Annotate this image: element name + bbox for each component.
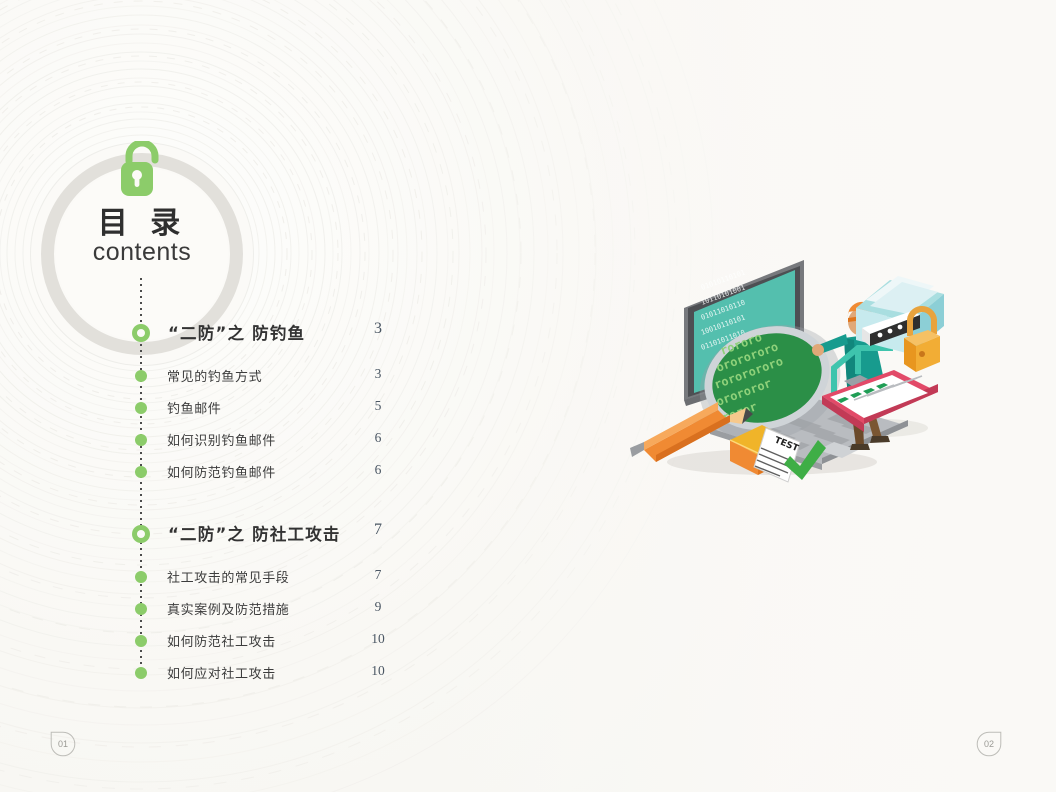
toc-page-number: 3 [360,366,396,382]
toc-section-row[interactable]: “二防”之 防钓鱼 3 [0,320,420,344]
ring-bullet-icon [132,525,150,543]
toc-page-number: 7 [360,521,396,539]
security-laptop-illustration: 01010110101 10110101001 01011010110 1001… [622,250,952,495]
page-number-left: 01 [58,739,68,749]
dot-bullet-icon [135,466,147,478]
dot-bullet-icon [135,571,147,583]
toc-page-number: 6 [360,430,396,446]
toc-item-label: 钓鱼邮件 [167,398,221,417]
dot-bullet-icon [135,635,147,647]
dot-bullet-icon [135,603,147,615]
toc-item-row[interactable]: 如何应对社工攻击 10 [0,661,420,685]
page-badge-right: 02 [976,731,1002,757]
toc-section-label: “二防”之 防社工攻击 [168,521,341,545]
page-number-right: 02 [984,739,994,749]
toc-page-number: 10 [360,631,396,647]
slide-canvas: 目 录 contents “二防”之 防钓鱼 3 常见的钓鱼方式 3 钓鱼邮件 … [0,0,1056,792]
toc-item-label: 如何识别钓鱼邮件 [167,430,276,449]
toc-item-row[interactable]: 如何识别钓鱼邮件 6 [0,428,420,452]
dot-bullet-icon [135,667,147,679]
toc-item-label: 社工攻击的常见手段 [167,567,289,586]
dot-bullet-icon [135,370,147,382]
toc-item-label: 真实案例及防范措施 [167,599,289,618]
dot-bullet-icon [135,434,147,446]
dot-bullet-icon [135,402,147,414]
toc-page-number: 6 [360,462,396,478]
toc-item-label: 如何防范钓鱼邮件 [167,462,276,481]
toc-section-label: “二防”之 防钓鱼 [168,320,305,344]
ring-bullet-icon [132,324,150,342]
toc-item-label: 常见的钓鱼方式 [167,366,262,385]
toc-item-row[interactable]: 真实案例及防范措施 9 [0,597,420,621]
page-badge-left: 01 [50,731,76,757]
toc-item-row[interactable]: 如何防范钓鱼邮件 6 [0,460,420,484]
toc-section-row[interactable]: “二防”之 防社工攻击 7 [0,521,420,545]
table-of-contents: “二防”之 防钓鱼 3 常见的钓鱼方式 3 钓鱼邮件 5 如何识别钓鱼邮件 6 … [0,0,440,792]
toc-page-number: 7 [360,567,396,583]
toc-page-number: 9 [360,599,396,615]
toc-item-row[interactable]: 社工攻击的常见手段 7 [0,565,420,589]
toc-item-label: 如何应对社工攻击 [167,663,276,682]
toc-page-number: 5 [360,398,396,414]
toc-item-row[interactable]: 如何防范社工攻击 10 [0,629,420,653]
toc-page-number: 3 [360,320,396,338]
toc-item-row[interactable]: 钓鱼邮件 5 [0,396,420,420]
toc-item-row[interactable]: 常见的钓鱼方式 3 [0,364,420,388]
toc-item-label: 如何防范社工攻击 [167,631,276,650]
toc-page-number: 10 [360,663,396,679]
